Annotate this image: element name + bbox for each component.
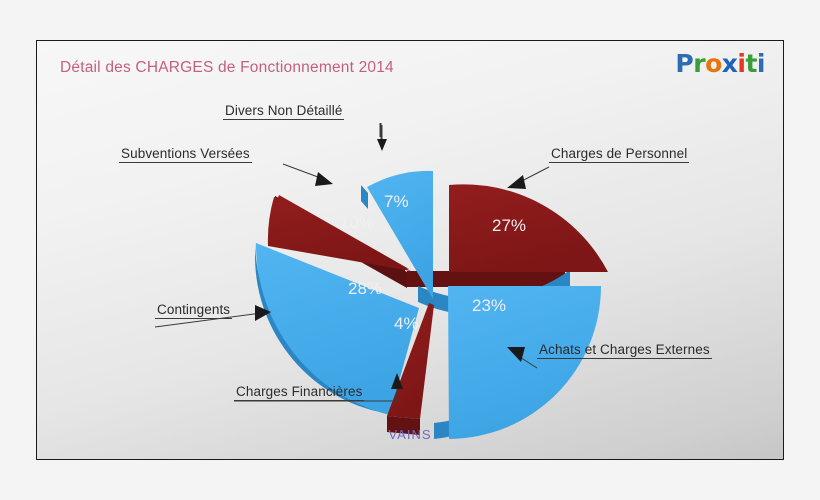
leader-charges-de-personnel bbox=[507, 167, 549, 189]
callout-divers-non-detaille[interactable]: Divers Non Détaillé bbox=[223, 103, 344, 120]
callout-charges-financieres[interactable]: Charges Financières bbox=[234, 384, 364, 401]
callout-achats-et-charges-externes[interactable]: Achats et Charges Externes bbox=[537, 342, 712, 359]
leader-divers-non-detaille bbox=[377, 125, 387, 151]
callout-subventions-versees[interactable]: Subventions Versées bbox=[119, 146, 252, 163]
slice-label-contingents: 28% bbox=[348, 279, 382, 298]
callout-label-achats-et-charges-externes: Achats et Charges Externes bbox=[537, 342, 712, 359]
chart-panel: Détail des CHARGES de Fonctionnement 201… bbox=[36, 40, 784, 460]
callout-label-subventions-versees: Subventions Versées bbox=[119, 146, 252, 163]
slice-side-divers-non-detaille bbox=[361, 185, 368, 209]
slice-label-charges-de-personnel: 27% bbox=[492, 216, 526, 235]
screenshot-root: Détail des CHARGES de Fonctionnement 201… bbox=[0, 0, 820, 500]
callout-leader-lines bbox=[380, 123, 381, 139]
pie-chart: 27% 23% 4% 28% 10% 7% bbox=[37, 41, 785, 461]
pie-slice-achats-et-charges-externes[interactable] bbox=[448, 286, 601, 439]
callout-label-contingents: Contingents bbox=[155, 302, 232, 319]
slice-label-achats-et-charges-externes: 23% bbox=[472, 296, 506, 315]
callout-label-divers-non-detaille: Divers Non Détaillé bbox=[223, 103, 344, 120]
slice-label-charges-financieres: 4% bbox=[394, 314, 419, 333]
callout-charges-de-personnel[interactable]: Charges de Personnel bbox=[549, 146, 689, 163]
slice-label-divers-non-detaille: 7% bbox=[384, 192, 409, 211]
callout-contingents[interactable]: Contingents bbox=[155, 302, 232, 319]
slice-label-subventions-versees: 10% bbox=[340, 213, 374, 232]
callout-label-charges-de-personnel: Charges de Personnel bbox=[549, 146, 689, 163]
pie-slice-charges-de-personnel-fill[interactable] bbox=[449, 184, 608, 272]
callout-label-charges-financieres: Charges Financières bbox=[234, 384, 364, 401]
chart-footer-label: VAINS bbox=[37, 427, 783, 442]
leader-subventions-versees bbox=[283, 164, 333, 186]
